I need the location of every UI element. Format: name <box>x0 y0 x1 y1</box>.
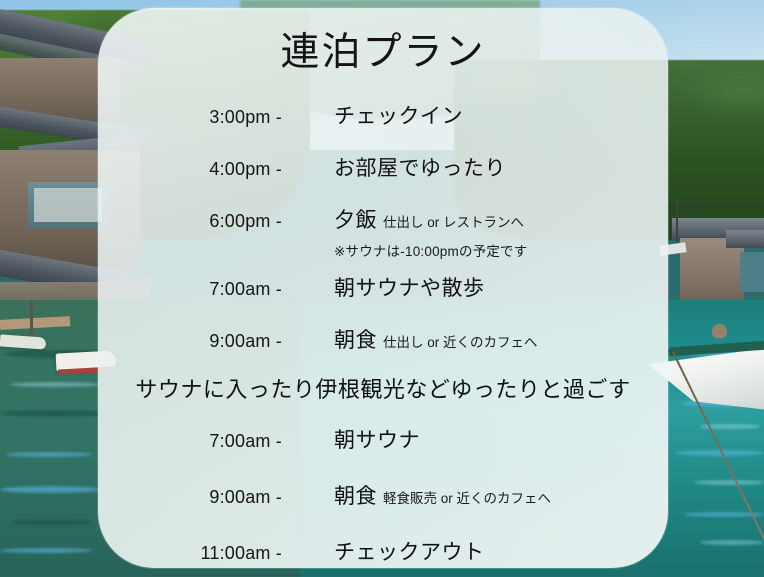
activity-main: 朝サウナや散歩 <box>334 277 485 300</box>
schedule-row: 9:00am - 朝食軽食販売 or 近くのカフェへ <box>98 480 668 510</box>
daytime-free-text: サウナに入ったり伊根観光などゆったりと過ごす <box>98 372 668 404</box>
activity-main: チェックイン <box>334 105 463 128</box>
schedule-row: 6:00pm - 夕飯仕出し or レストランへ <box>98 204 668 234</box>
schedule-activity: お部屋でゆったり <box>282 152 668 182</box>
activity-main: 夕飯 <box>334 209 377 232</box>
plan-panel: 連泊プラン 3:00pm - チェックイン 4:00pm - お部屋でゆったり <box>98 8 668 568</box>
note-spacer <box>98 236 282 260</box>
schedule-time: 4:00pm - <box>98 159 282 180</box>
activity-main: お部屋でゆったり <box>334 157 506 180</box>
funaya-roof-2 <box>726 230 764 248</box>
utility-pole <box>676 196 678 242</box>
schedule-activity: 朝食軽食販売 or 近くのカフェへ <box>282 480 668 510</box>
water-ripple <box>700 540 764 545</box>
activity-main: チェックアウト <box>334 541 485 564</box>
water-ripple <box>6 452 92 457</box>
schedule-row: 9:00am - 朝食仕出し or 近くのカフェへ <box>98 324 668 354</box>
schedule-note: ※サウナは-10:00pmの予定です <box>282 240 668 260</box>
activity-main: 朝サウナ <box>334 429 420 452</box>
screenshot-root: 連泊プラン 3:00pm - チェックイン 4:00pm - お部屋でゆったり <box>0 0 764 577</box>
water-ripple <box>0 410 110 417</box>
schedule-time: 7:00am - <box>98 279 282 300</box>
activity-main: 朝食 <box>334 485 377 508</box>
schedule-time: 9:00am - <box>98 331 282 352</box>
activity-main: 朝食 <box>334 329 377 352</box>
schedule-time: 11:00am - <box>98 543 282 564</box>
schedule-activity: 朝食仕出し or 近くのカフェへ <box>282 324 668 354</box>
schedule-activity: 朝サウナや散歩 <box>282 272 668 302</box>
schedule-row: 7:00am - 朝サウナ <box>98 424 668 454</box>
spacer <box>98 260 668 272</box>
schedule-time: 6:00pm - <box>98 211 282 232</box>
activity-sub: 仕出し or 近くのカフェへ <box>383 335 538 350</box>
schedule-time: 9:00am - <box>98 487 282 508</box>
schedule-list: 3:00pm - チェックイン 4:00pm - お部屋でゆったり 6:00pm… <box>98 100 668 566</box>
activity-sub: 軽食販売 or 近くのカフェへ <box>383 491 551 506</box>
water-ripple <box>0 486 100 493</box>
schedule-activity: 夕飯仕出し or レストランへ <box>282 204 668 234</box>
activity-sub: 仕出し or レストランへ <box>383 215 524 230</box>
water-ripple <box>12 520 92 525</box>
schedule-time: 3:00pm - <box>98 107 282 128</box>
water-ripple <box>10 382 100 387</box>
schedule-time: 7:00am - <box>98 431 282 452</box>
schedule-note-row: ※サウナは-10:00pmの予定です <box>98 236 668 260</box>
schedule-activity: チェックイン <box>282 100 668 130</box>
schedule-row: 3:00pm - チェックイン <box>98 100 668 130</box>
house-window-frame <box>34 188 102 222</box>
bird-on-boat <box>712 324 727 338</box>
dock-post <box>30 300 33 334</box>
schedule-row: 11:00am - チェックアウト <box>98 536 668 566</box>
schedule-activity: 朝サウナ <box>282 424 668 454</box>
schedule-activity: チェックアウト <box>282 536 668 566</box>
schedule-row: 7:00am - 朝サウナや散歩 <box>98 272 668 302</box>
water-ripple <box>0 548 92 553</box>
schedule-row: 4:00pm - お部屋でゆったり <box>98 152 668 182</box>
funaya-balcony <box>740 252 764 292</box>
page-title: 連泊プラン <box>98 30 668 77</box>
water-ripple <box>694 480 764 485</box>
